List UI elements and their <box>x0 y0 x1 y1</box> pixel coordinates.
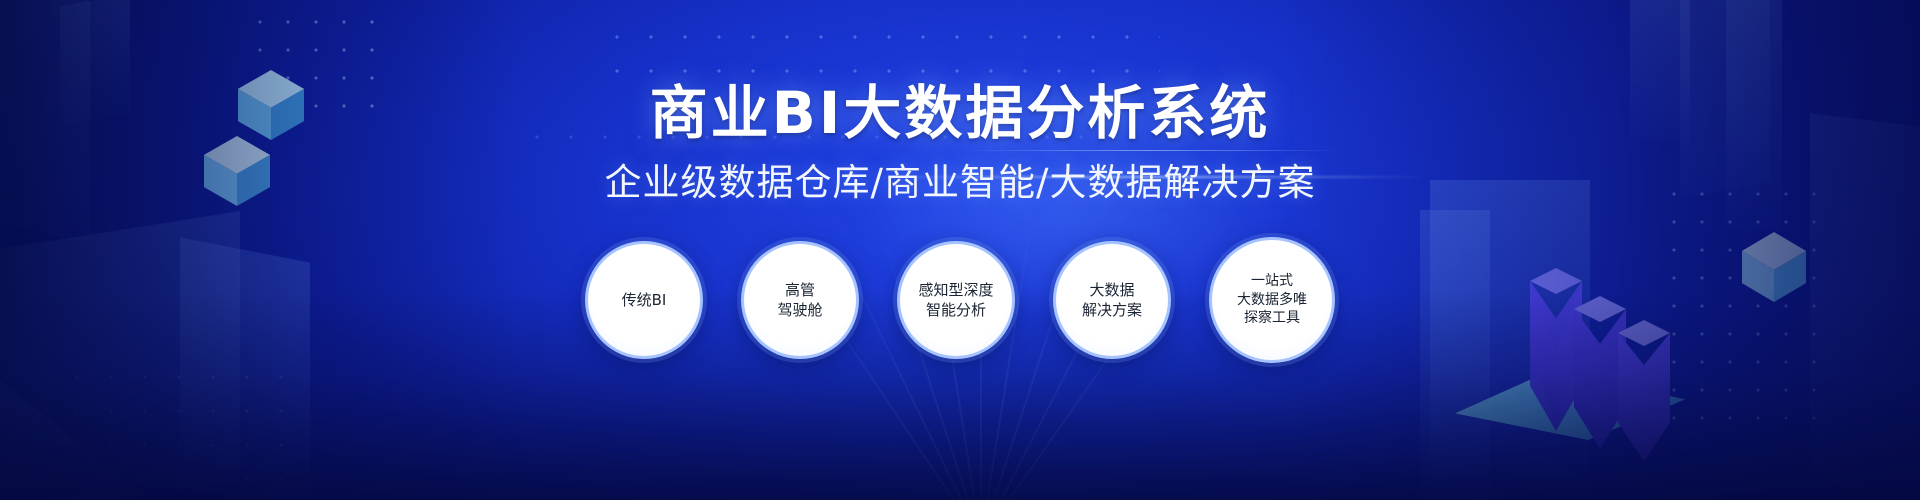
badge-line: 感知型深度 <box>918 280 993 300</box>
badge-line: 驾驶舱 <box>777 300 822 320</box>
feature-badge-row: 传统BI 高管 驾驶舱 感知型深度 智能分析 大数据 解决方案 一站式 大数据多… <box>0 236 1920 364</box>
feature-badge-bigdata-solution[interactable]: 大数据 解决方案 <box>1053 241 1171 359</box>
badge-line: 一站式 <box>1251 272 1293 291</box>
badge-line: 智能分析 <box>926 300 986 320</box>
badge-line: 传统BI <box>622 290 667 310</box>
feature-badge-perceptive-analysis[interactable]: 感知型深度 智能分析 <box>897 241 1015 359</box>
banner-title: 商业BI大数据分析系统 <box>0 66 1920 150</box>
badge-line: 探察工具 <box>1244 309 1300 328</box>
banner-subtitle: 企业级数据仓库/商业智能/大数据解决方案 <box>0 152 1920 206</box>
badge-line: 大数据 <box>1089 280 1134 300</box>
badge-line: 高管 <box>785 280 815 300</box>
feature-badge-traditional-bi[interactable]: 传统BI <box>585 241 703 359</box>
badge-line: 解决方案 <box>1082 300 1142 320</box>
feature-badge-one-stop-tools[interactable]: 一站式 大数据多唯 探察工具 <box>1209 237 1335 363</box>
badge-line: 大数据多唯 <box>1237 291 1307 310</box>
bi-hero-banner: 商业BI大数据分析系统 企业级数据仓库/商业智能/大数据解决方案 传统BI 高管… <box>0 0 1920 500</box>
feature-badge-executive-cockpit[interactable]: 高管 驾驶舱 <box>741 241 859 359</box>
